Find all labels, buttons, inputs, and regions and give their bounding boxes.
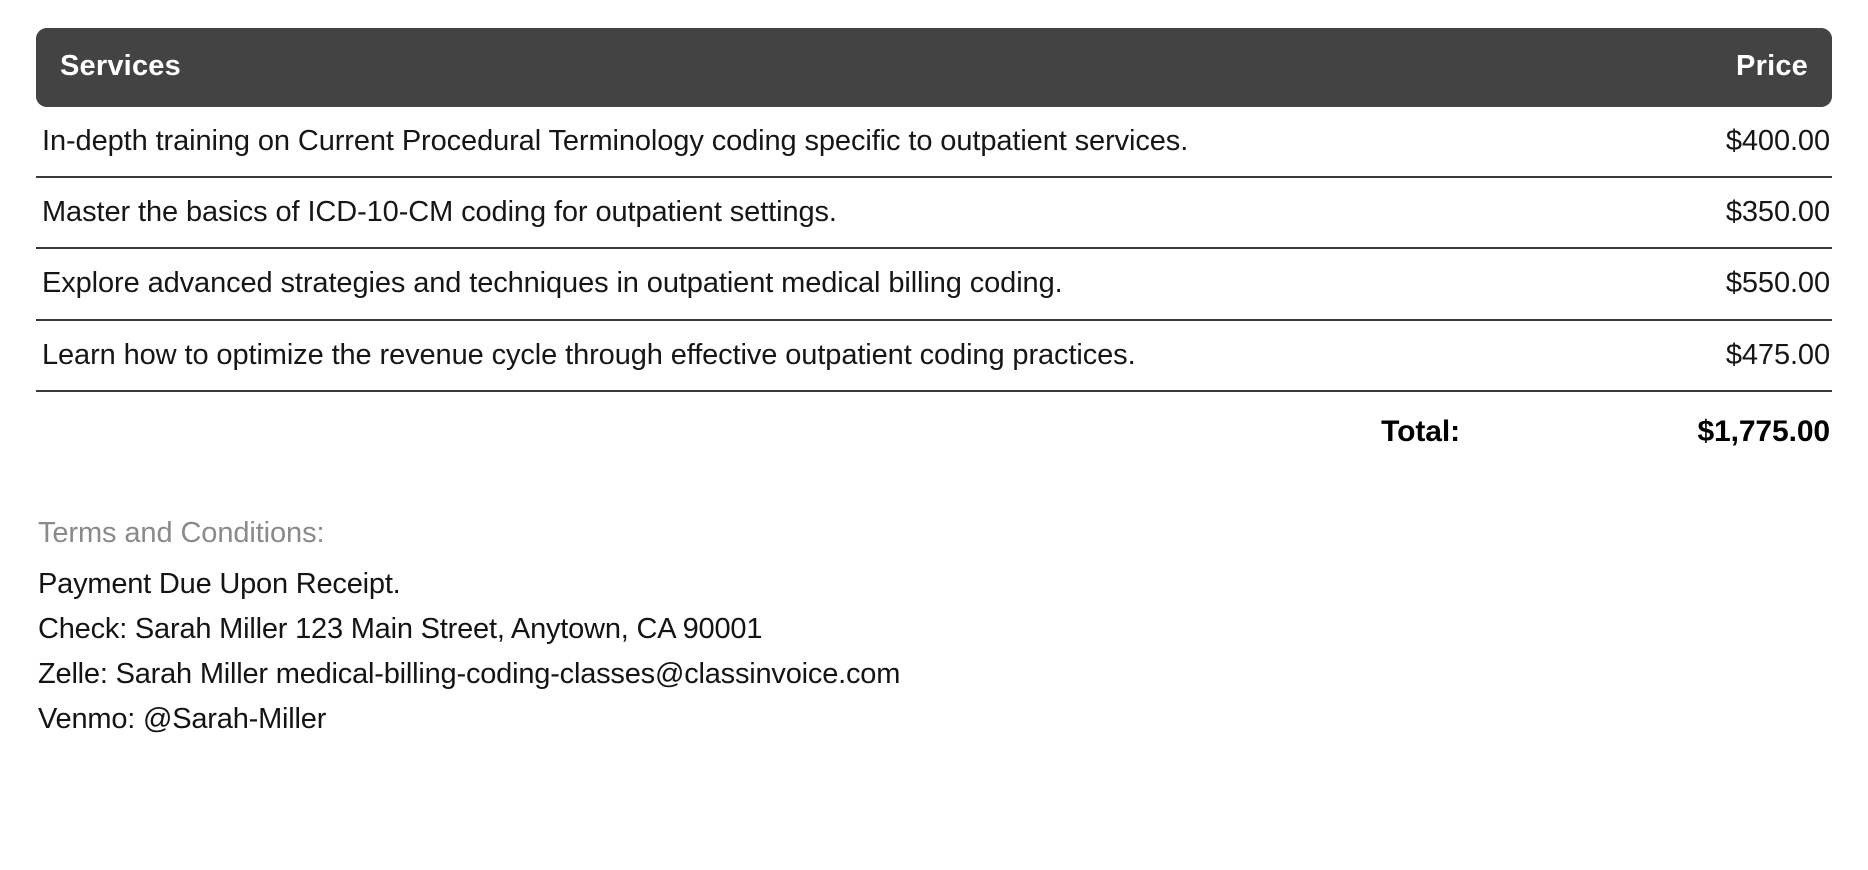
table-row: Master the basics of ICD-10-CM coding fo… <box>36 177 1832 248</box>
table-row: Explore advanced strategies and techniqu… <box>36 248 1832 319</box>
table-row: Learn how to optimize the revenue cycle … <box>36 320 1832 391</box>
service-description: In-depth training on Current Procedural … <box>36 107 1532 177</box>
terms-line-venmo: Venmo: @Sarah-Miller <box>38 697 1832 742</box>
terms-line-payment-due: Payment Due Upon Receipt. <box>38 562 1832 607</box>
service-price: $550.00 <box>1532 248 1832 319</box>
services-price-table: Services Price In-depth training on Curr… <box>36 28 1832 467</box>
total-amount: $1,775.00 <box>1532 391 1832 467</box>
service-description: Master the basics of ICD-10-CM coding fo… <box>36 177 1532 248</box>
total-label: Total: <box>36 391 1532 467</box>
terms-heading: Terms and Conditions: <box>38 517 1832 550</box>
table-header-row: Services Price <box>36 28 1832 107</box>
terms-line-check: Check: Sarah Miller 123 Main Street, Any… <box>38 607 1832 652</box>
column-header-services: Services <box>36 28 1532 107</box>
service-price: $350.00 <box>1532 177 1832 248</box>
service-description: Explore advanced strategies and techniqu… <box>36 248 1532 319</box>
table-body: In-depth training on Current Procedural … <box>36 107 1832 467</box>
terms-and-conditions-section: Terms and Conditions: Payment Due Upon R… <box>36 517 1832 742</box>
column-header-price: Price <box>1532 28 1832 107</box>
service-price: $400.00 <box>1532 107 1832 177</box>
total-row: Total: $1,775.00 <box>36 391 1832 467</box>
invoice-sheet: Services Price In-depth training on Curr… <box>0 0 1868 870</box>
table-header: Services Price <box>36 28 1832 107</box>
table-row: In-depth training on Current Procedural … <box>36 107 1832 177</box>
service-price: $475.00 <box>1532 320 1832 391</box>
service-description: Learn how to optimize the revenue cycle … <box>36 320 1532 391</box>
terms-line-zelle: Zelle: Sarah Miller medical-billing-codi… <box>38 652 1832 697</box>
